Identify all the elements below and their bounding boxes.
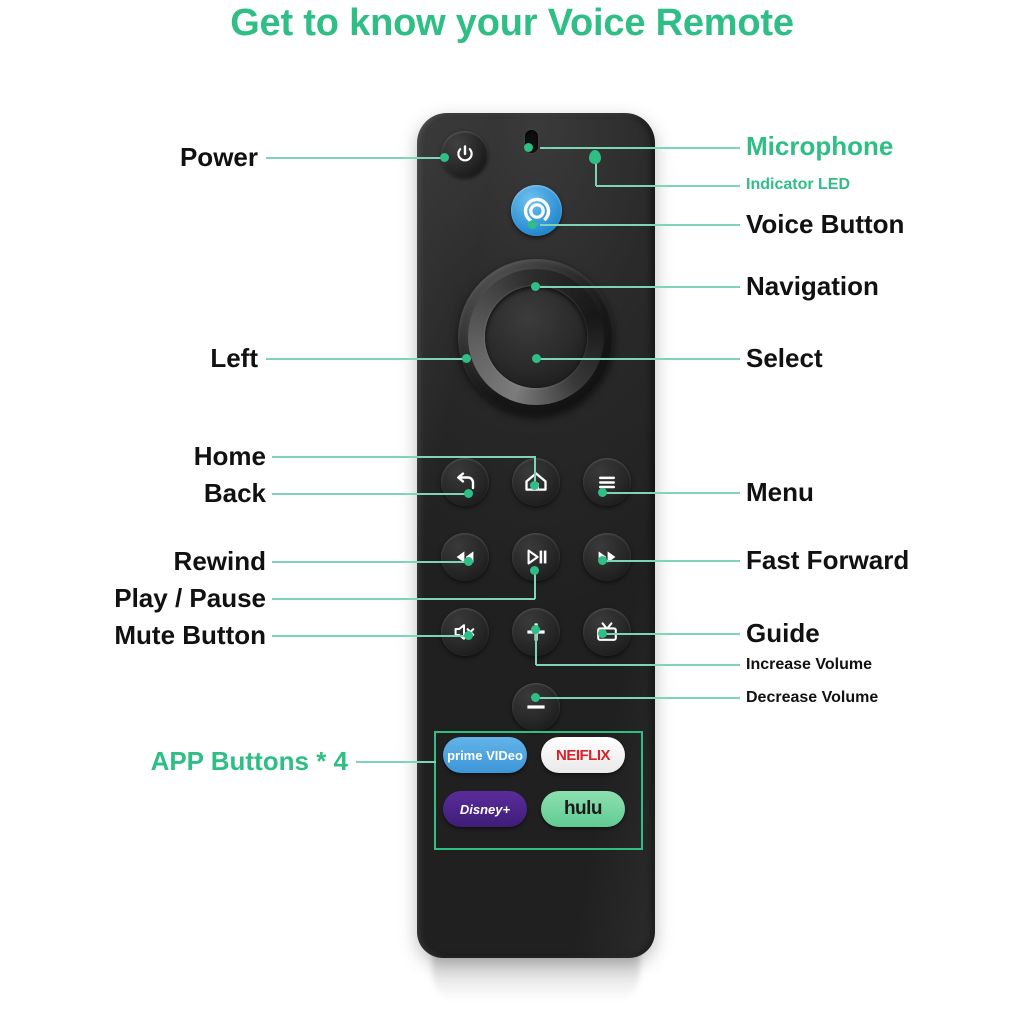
select-button[interactable] [485, 286, 587, 388]
back-button[interactable] [441, 458, 489, 506]
leader-dot-navigation [531, 282, 540, 291]
leader-navigation [540, 286, 740, 288]
leader-menu [606, 492, 740, 494]
leader-play-pause-h [272, 598, 535, 600]
guide-button[interactable] [583, 608, 631, 656]
label-app-buttons: APP Buttons * 4 [0, 746, 348, 777]
leader-dot-guide [598, 629, 607, 638]
leader-dot-rewind [464, 557, 473, 566]
leader-dot-menu [598, 488, 607, 497]
label-play-pause: Play / Pause [0, 583, 266, 614]
label-menu: Menu [746, 477, 814, 508]
label-guide: Guide [746, 618, 820, 649]
remote-reflection [432, 950, 640, 1010]
label-select: Select [746, 343, 823, 374]
leader-app-buttons [356, 761, 436, 763]
leader-dot-microphone [524, 143, 533, 152]
leader-voice-button [540, 224, 740, 226]
leader-dot-indicator-led [589, 150, 601, 164]
fast-forward-button[interactable] [583, 533, 631, 581]
leader-mute [272, 635, 468, 637]
menu-button[interactable] [583, 458, 631, 506]
leader-dot-fast-forward [598, 556, 607, 565]
label-power: Power [0, 142, 258, 173]
infographic-canvas: Get to know your Voice Remote [0, 0, 1024, 1024]
leader-increase-volume-h [536, 664, 740, 666]
label-rewind: Rewind [0, 546, 266, 577]
leader-dot-left [462, 354, 471, 363]
leader-dot-select [532, 354, 541, 363]
label-home: Home [0, 441, 266, 472]
label-microphone: Microphone [746, 131, 893, 162]
label-left: Left [0, 343, 258, 374]
leader-dot-play-pause [530, 566, 539, 575]
leader-select [540, 358, 740, 360]
leader-left [266, 358, 466, 360]
leader-back [272, 493, 468, 495]
leader-fast-forward [606, 560, 740, 562]
label-indicator-led: Indicator LED [746, 176, 850, 194]
leader-dot-back [464, 489, 473, 498]
leader-dot-decrease-volume [531, 693, 540, 702]
label-navigation: Navigation [746, 271, 879, 302]
page-title: Get to know your Voice Remote [0, 2, 1024, 45]
label-fast-forward: Fast Forward [746, 545, 909, 576]
label-decrease-volume: Decrease Volume [746, 689, 878, 707]
leader-decrease-volume [540, 697, 740, 699]
leader-power [266, 157, 444, 159]
leader-dot-increase-volume [531, 625, 540, 634]
label-increase-volume: Increase Volume [746, 656, 872, 674]
leader-indicator-led-h [596, 185, 740, 187]
voice-button[interactable] [511, 185, 562, 236]
leader-guide [606, 633, 740, 635]
leader-dot-mute [464, 631, 473, 640]
leader-microphone [540, 147, 740, 149]
power-icon [453, 143, 477, 167]
label-mute: Mute Button [0, 620, 266, 651]
leader-dot-power [440, 153, 449, 162]
leader-dot-voice-button [528, 220, 537, 229]
label-back: Back [0, 478, 266, 509]
leader-dot-home [530, 481, 539, 490]
volume-down-button[interactable] [512, 683, 560, 731]
app-buttons-highlight-box [434, 731, 643, 850]
leader-indicator-led-v [595, 162, 597, 186]
leader-home-h [272, 456, 535, 458]
leader-increase-volume-v [535, 632, 537, 665]
leader-rewind [272, 561, 468, 563]
label-voice-button: Voice Button [746, 209, 904, 240]
